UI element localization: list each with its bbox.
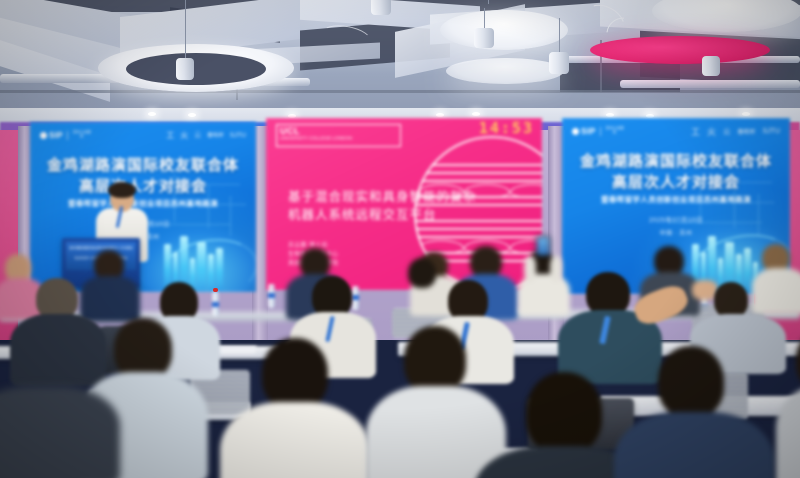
disc-light-1 <box>440 10 568 50</box>
presenter-hair <box>108 182 136 198</box>
ceiling <box>0 0 800 120</box>
smartphone <box>536 236 550 256</box>
pendant-light-3 <box>474 28 494 48</box>
water-bottle <box>268 284 275 308</box>
pendant-light-5 <box>702 56 720 76</box>
conference-hall-photo: SIP 苏州工业园区 工 火 云 春晖杯 SJTU 金鸡湖路演国际校友联合体 高… <box>0 0 800 478</box>
water-bottle <box>352 286 359 310</box>
water-bottle <box>212 292 219 316</box>
podium-banner-line1: 金鸡湖路演国际校友联合体高层次人才对接会 <box>66 246 136 251</box>
disc-light-2 <box>446 58 564 84</box>
pendant-light-1 <box>176 58 194 80</box>
pendant-light-4 <box>549 52 569 74</box>
pendant-light-2 <box>371 0 391 15</box>
